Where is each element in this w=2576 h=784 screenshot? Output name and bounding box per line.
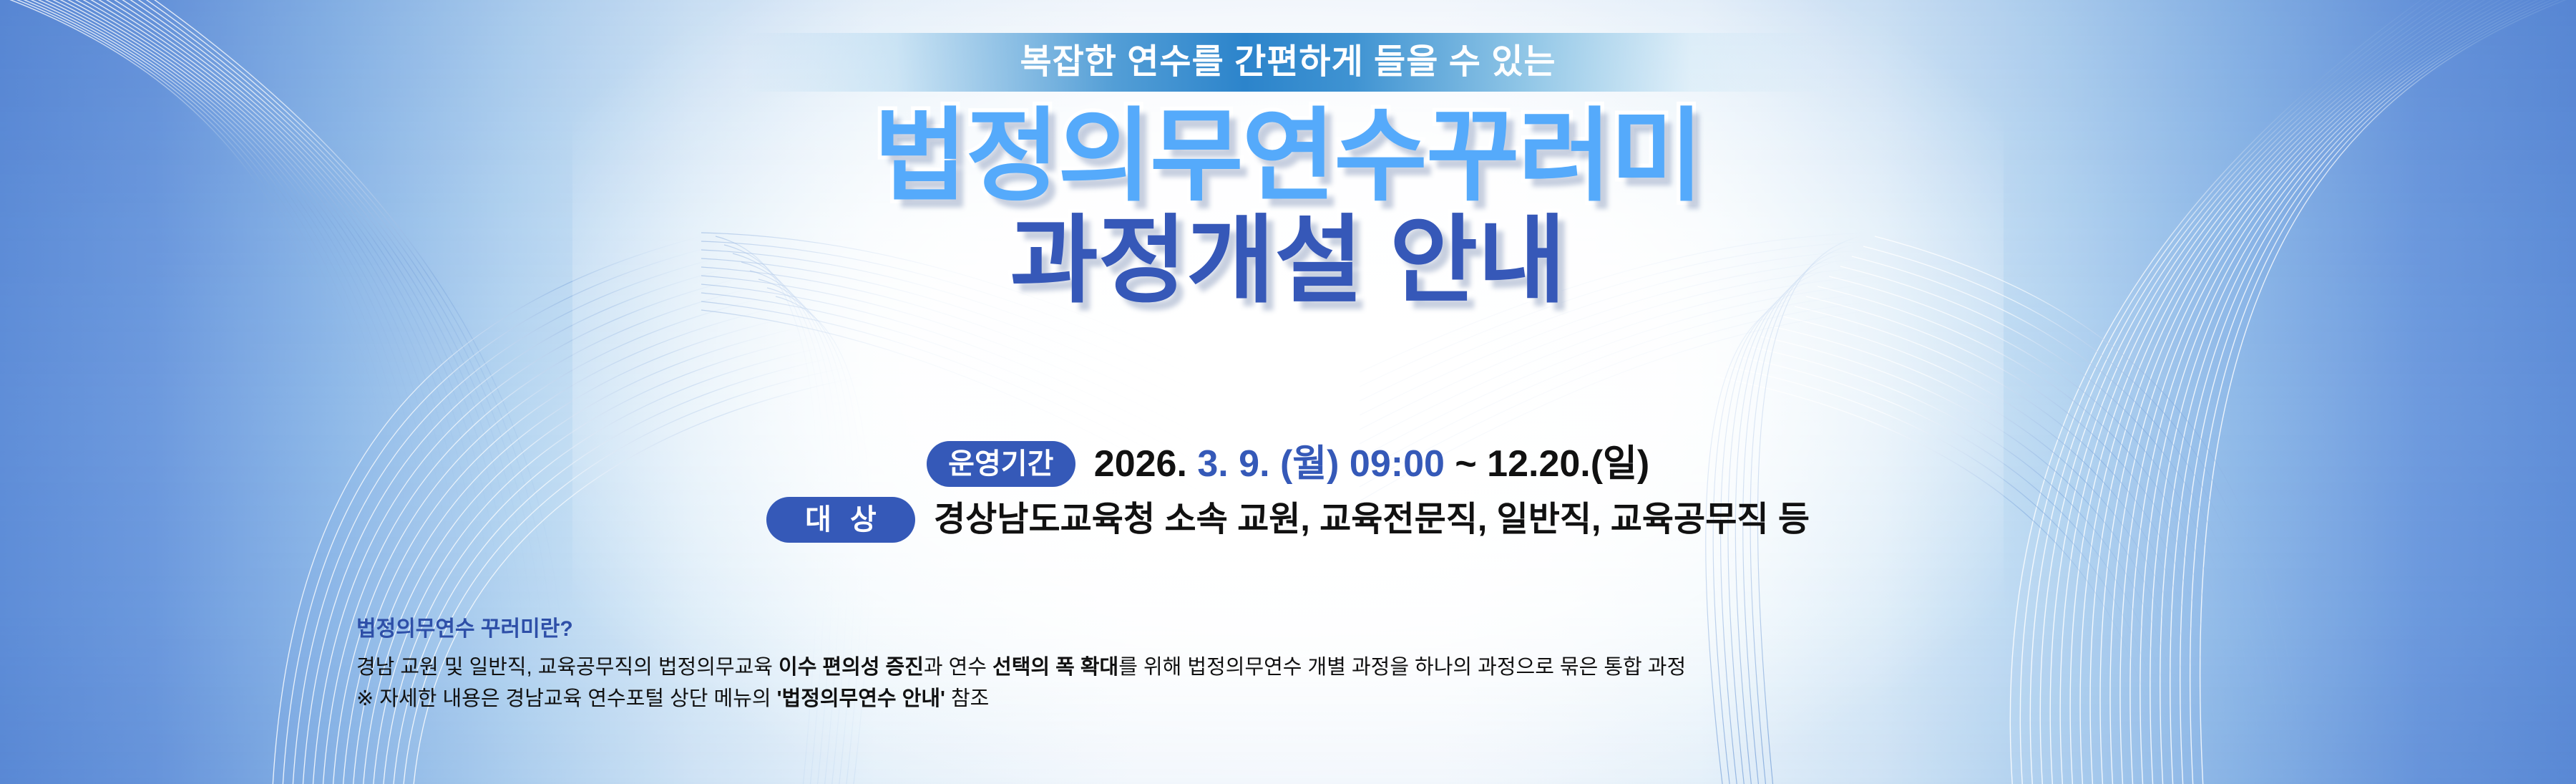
period-value-prefix: 2026. xyxy=(1094,443,1198,485)
footnote-l1-d: 선택의 폭 확대 xyxy=(992,656,1118,679)
tagline-band: 복잡한 연수를 간편하게 들을 수 있는 xyxy=(744,33,1832,92)
page-title: 법정의무연수꾸러미 과정개설 안내 xyxy=(0,106,2576,309)
badge-period: 운영기간 xyxy=(927,441,1075,487)
footnote-l2-c: 참조 xyxy=(945,687,989,710)
footnote-l1-e: 를 위해 법정의무연수 개별 과정을 하나의 과정으로 묶은 통합 과정 xyxy=(1118,656,1686,679)
footnote-line-2: ※ 자세한 내용은 경남교육 연수포털 상단 메뉴의 '법정의무연수 안내' 참… xyxy=(356,684,2288,715)
footnote-l2-a: ※ 자세한 내용은 경남교육 연수포털 상단 메뉴의 xyxy=(356,687,777,710)
period-value-accent: 3. 9. (월) 09:00 xyxy=(1197,443,1445,485)
info-row-target: 대상 경상남도교육청 소속 교원, 교육전문직, 일반직, 교육공무직 등 xyxy=(0,497,2576,543)
target-value: 경상남도교육청 소속 교원, 교육전문직, 일반직, 교육공무직 등 xyxy=(934,503,1810,537)
headline-line-2: 과정개설 안내 xyxy=(0,213,2576,309)
footnote-l1-c: 과 연수 xyxy=(924,656,992,679)
footnote-line-1: 경남 교원 및 일반직, 교육공무직의 법정의무교육 이수 편의성 증진과 연수… xyxy=(356,652,2288,684)
footnote-l1-a: 경남 교원 및 일반직, 교육공무직의 법정의무교육 xyxy=(356,656,779,679)
period-value: 2026. 3. 9. (월) 09:00 ~ 12.20.(일) xyxy=(1094,445,1649,483)
tagline-text: 복잡한 연수를 간편하게 들을 수 있는 xyxy=(1020,45,1556,79)
promo-banner: 복잡한 연수를 간편하게 들을 수 있는 법정의무연수꾸러미 과정개설 안내 운… xyxy=(0,0,2576,784)
badge-target: 대상 xyxy=(766,497,915,543)
footnote-block: 법정의무연수 꾸러미란? 경남 교원 및 일반직, 교육공무직의 법정의무교육 … xyxy=(356,617,2288,715)
headline-line-1: 법정의무연수꾸러미 xyxy=(0,106,2576,208)
footnote-l2-b: '법정의무연수 안내' xyxy=(777,687,945,710)
footnote-title: 법정의무연수 꾸러미란? xyxy=(356,617,2288,641)
banner-content: 복잡한 연수를 간편하게 들을 수 있는 법정의무연수꾸러미 과정개설 안내 운… xyxy=(0,0,2576,784)
period-value-suffix: ~ 12.20.(일) xyxy=(1445,443,1649,485)
info-row-period: 운영기간 2026. 3. 9. (월) 09:00 ~ 12.20.(일) xyxy=(0,441,2576,487)
info-rows: 운영기간 2026. 3. 9. (월) 09:00 ~ 12.20.(일) 대… xyxy=(0,441,2576,553)
footnote-l1-b: 이수 편의성 증진 xyxy=(779,656,924,679)
